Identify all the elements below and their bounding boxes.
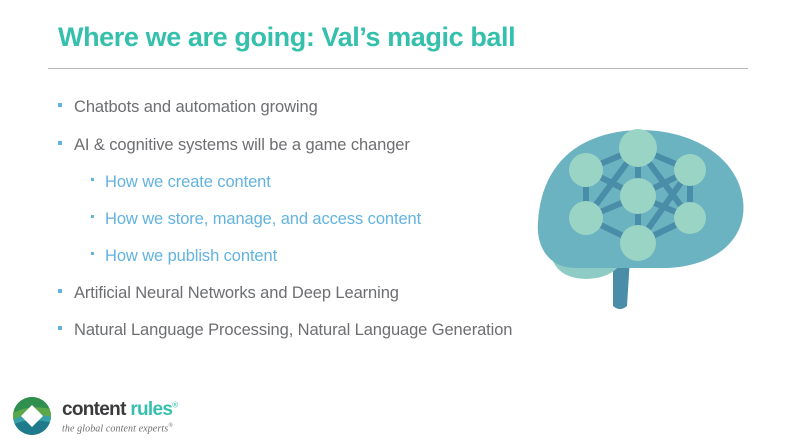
bullet-list: Chatbots and automation growing AI & cog… (58, 94, 528, 355)
brand-footer: content rules® the global content expert… (12, 396, 177, 436)
brand-name: content rules® (62, 400, 177, 420)
bullet-marker-icon (58, 326, 62, 330)
list-item-label: Artificial Neural Networks and Deep Lear… (74, 280, 399, 307)
page-title: Where we are going: Val’s magic ball (58, 22, 515, 53)
bullet-marker-icon (58, 103, 62, 107)
list-item: Natural Language Processing, Natural Lan… (58, 317, 528, 344)
list-item-label: Chatbots and automation growing (74, 94, 318, 121)
brain-neural-network-icon (528, 118, 760, 318)
list-item: Chatbots and automation growing (58, 94, 528, 121)
sub-list-item-label: How we store, manage, and access content (105, 206, 421, 233)
list-item-label: Natural Language Processing, Natural Lan… (74, 317, 512, 344)
slide-canvas: Where we are going: Val’s magic ball Cha… (0, 0, 795, 447)
bullet-marker-icon (91, 215, 94, 218)
bullet-marker-icon (91, 252, 94, 255)
list-item: AI & cognitive systems will be a game ch… (58, 132, 528, 159)
brand-word-content: content (62, 399, 126, 420)
list-item: Artificial Neural Networks and Deep Lear… (58, 280, 528, 307)
content-rules-logo-icon (12, 396, 52, 436)
brand-word-rules: rules (130, 399, 172, 420)
sub-list-item: How we create content (91, 169, 528, 196)
sub-list-item-label: How we publish content (105, 243, 277, 270)
list-item-label: AI & cognitive systems will be a game ch… (74, 132, 410, 159)
registered-trademark-small-icon: ® (168, 423, 173, 429)
bullet-marker-icon (58, 141, 62, 145)
title-divider (48, 68, 748, 69)
brand-tagline: the global content experts® (62, 423, 177, 434)
bullet-marker-icon (58, 289, 62, 293)
brand-tagline-text: the global content experts (62, 423, 168, 434)
sub-list-item: How we store, manage, and access content (91, 206, 528, 233)
brand-wordmark: content rules® the global content expert… (62, 398, 177, 434)
bullet-marker-icon (91, 178, 94, 181)
sub-list-item-label: How we create content (105, 169, 271, 196)
registered-trademark-icon: ® (172, 401, 177, 410)
sub-list-item: How we publish content (91, 243, 528, 270)
